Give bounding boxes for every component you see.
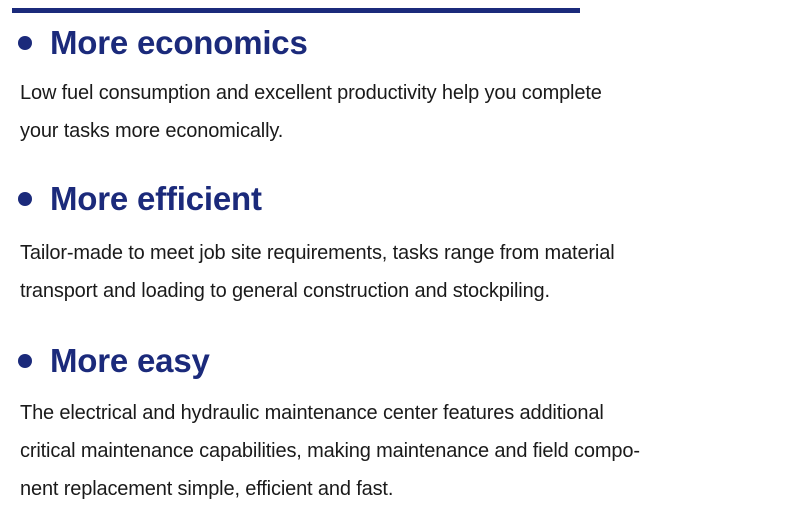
body-line: nent replacement simple, efficient and f…	[20, 470, 760, 508]
body-line: transport and loading to general constru…	[20, 272, 760, 310]
feature-body-efficient: Tailor-made to meet job site requirement…	[0, 234, 790, 310]
body-line: Tailor-made to meet job site requirement…	[20, 234, 760, 272]
feature-heading-economics: More economics	[0, 22, 800, 64]
feature-heading-label: More economics	[50, 22, 308, 64]
feature-body-easy: The electrical and hydraulic maintenance…	[0, 394, 790, 508]
feature-section-easy: More easy The electrical and hydraulic m…	[0, 340, 800, 508]
bullet-icon	[18, 354, 32, 368]
body-line: The electrical and hydraulic maintenance…	[20, 394, 760, 432]
feature-section-economics: More economics Low fuel consumption and …	[0, 22, 800, 150]
feature-heading-label: More easy	[50, 340, 210, 382]
body-line: Low fuel consumption and excellent produ…	[20, 74, 760, 112]
feature-heading-easy: More easy	[0, 340, 800, 382]
body-line: critical maintenance capabilities, makin…	[20, 432, 760, 470]
feature-list: More economics Low fuel consumption and …	[0, 22, 800, 508]
bullet-icon	[18, 192, 32, 206]
feature-heading-efficient: More efficient	[0, 178, 800, 220]
feature-heading-label: More efficient	[50, 178, 262, 220]
body-line: your tasks more economically.	[20, 112, 760, 150]
feature-body-economics: Low fuel consumption and excellent produ…	[0, 74, 790, 150]
bullet-icon	[18, 36, 32, 50]
feature-section-efficient: More efficient Tailor-made to meet job s…	[0, 178, 800, 310]
top-divider-rule	[12, 8, 580, 13]
page-root: More economics Low fuel consumption and …	[0, 0, 800, 510]
